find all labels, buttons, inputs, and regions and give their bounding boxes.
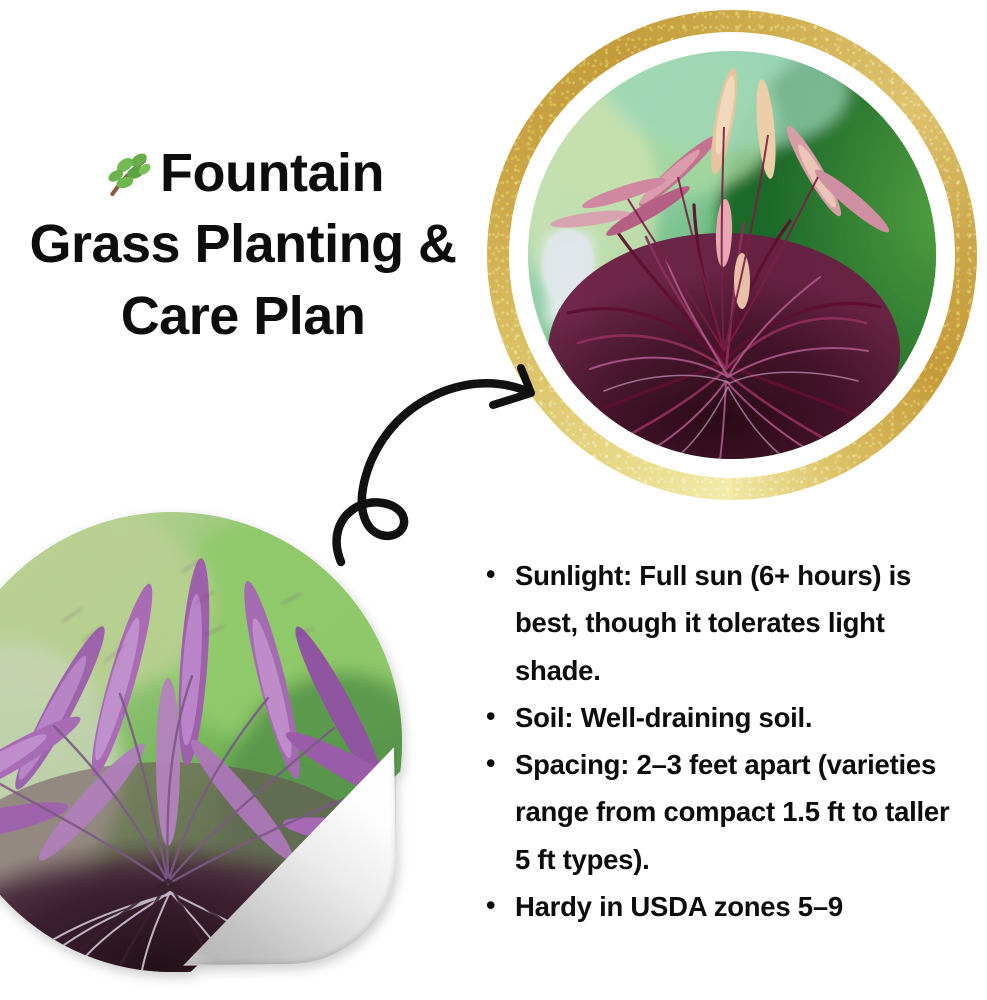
list-item: Hardy in USDA zones 5–9 xyxy=(482,883,968,930)
page-title-line-3: Care Plan xyxy=(121,286,366,346)
list-item: Spacing: 2–3 feet apart (varieties range… xyxy=(482,741,968,883)
page-title-line-2: Grass Planting & xyxy=(29,214,456,274)
page-title-line-1: Fountain xyxy=(160,143,384,203)
bottom-left-image-frame xyxy=(0,512,402,972)
list-item: Soil: Well-draining soil. xyxy=(482,694,968,741)
list-item: Sunlight: Full sun (6+ hours) is best, t… xyxy=(482,552,968,694)
infographic-canvas: Fountain Grass Planting & Care Plan xyxy=(0,0,987,1000)
page-title: Fountain Grass Planting & Care Plan xyxy=(8,138,478,352)
care-instructions-list: Sunlight: Full sun (6+ hours) is best, t… xyxy=(482,552,968,930)
purple-fountain-grass-clump-photo xyxy=(528,51,936,459)
top-right-image-frame xyxy=(487,10,977,500)
herb-leaf-icon xyxy=(102,146,156,194)
